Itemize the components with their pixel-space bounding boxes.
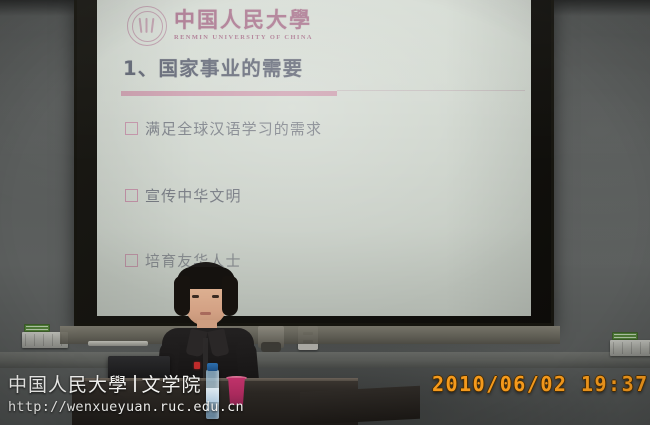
watermark-url: http://wenxueyuan.ruc.edu.cn	[8, 399, 244, 415]
presenter-hair-right	[222, 276, 238, 316]
presenter-hair-left	[174, 276, 190, 316]
watermark-department: 文学院	[142, 370, 202, 397]
wall-plate-right	[610, 340, 650, 356]
marker-tray	[88, 341, 148, 346]
wall-plate-left-label	[24, 324, 50, 332]
camera-timestamp: 2010/06/02 19:37	[432, 372, 649, 396]
watermark-separator-icon	[134, 375, 136, 392]
watermark-organization: 中国人民大學	[8, 370, 128, 397]
wall-plate-left-slots	[25, 334, 65, 346]
slide-title: 1、国家事业的需要	[123, 52, 303, 81]
logo-english-name: RENMIN UNIVERSITY OF CHINA	[174, 35, 313, 41]
presenter-badge	[194, 362, 200, 369]
title-rule-thin	[337, 90, 525, 91]
projection-screen-frame: 中国人民大學 RENMIN UNIVERSITY OF CHINA 1、国家事业…	[74, 0, 554, 326]
title-rule-thick	[121, 91, 337, 96]
bullet-square-icon	[125, 189, 138, 202]
photo-screenshot: 中国人民大學 RENMIN UNIVERSITY OF CHINA 1、国家事业…	[0, 0, 650, 425]
presenter-eye-left	[192, 295, 199, 298]
logo-chinese-name: 中国人民大學	[174, 10, 313, 31]
slide-bullet-1-text: 满足全球汉语学习的需求	[145, 118, 322, 139]
wall-plate-right-label	[612, 332, 638, 340]
wall-ledge	[0, 352, 650, 368]
watermark: 中国人民大學 文学院 http://wenxueyuan.ruc.edu.cn	[8, 370, 244, 415]
slide-bullet-1: 满足全球汉语学习的需求	[125, 118, 322, 139]
bullet-square-icon	[125, 122, 138, 135]
university-seal-icon	[127, 6, 167, 46]
university-logo: 中国人民大學 RENMIN UNIVERSITY OF CHINA	[127, 6, 313, 46]
slide-bullet-2-text: 宣传中华文明	[145, 185, 242, 206]
wall-plate-right-slots	[613, 342, 650, 354]
presenter-mouth	[200, 312, 211, 315]
bullet-square-icon	[125, 254, 138, 267]
podium-right-section	[300, 386, 420, 425]
slide-bullet-2: 宣传中华文明	[125, 185, 242, 206]
presenter-eye-right	[212, 295, 219, 298]
presentation-slide: 中国人民大學 RENMIN UNIVERSITY OF CHINA 1、国家事业…	[97, 0, 531, 290]
